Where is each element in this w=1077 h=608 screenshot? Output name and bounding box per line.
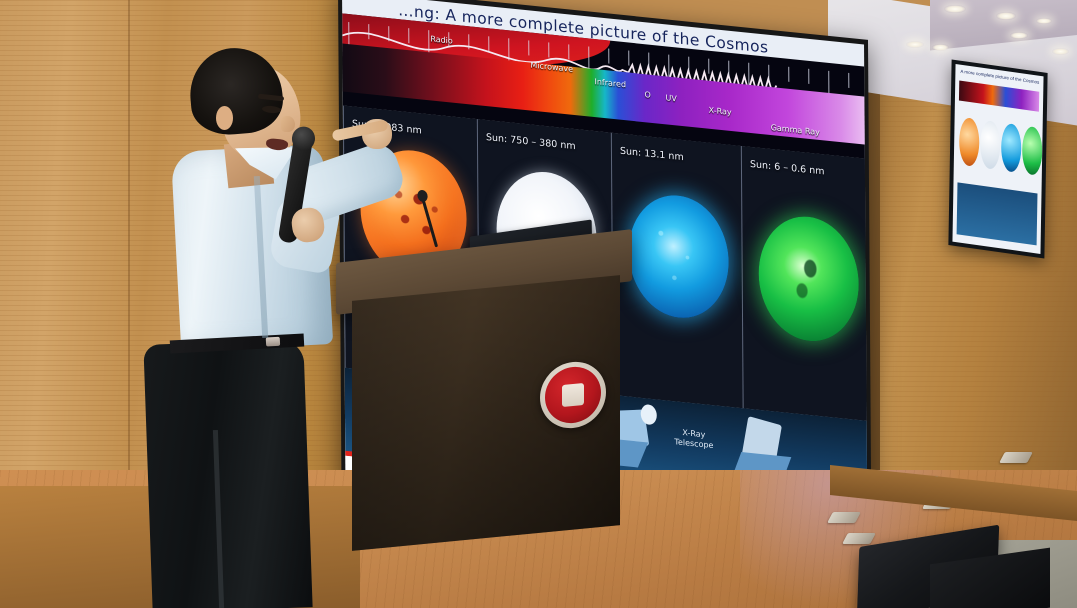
downlight-icon xyxy=(1052,48,1069,55)
sun-label-xray: Sun: 6 – 0.6 nm xyxy=(750,159,825,178)
secondary-sun-infrared xyxy=(959,117,980,168)
lecture-hall-photo: …ng: A more complete picture of the Cosm… xyxy=(0,0,1077,608)
presenter-nose xyxy=(281,116,295,132)
downlight-icon xyxy=(1036,18,1052,24)
presenter-trousers xyxy=(143,339,312,608)
downlight-icon xyxy=(944,5,966,13)
secondary-display: A more complete picture of the Cosmos xyxy=(948,59,1047,258)
floor-outlet xyxy=(999,452,1033,463)
telescope-label-line2: Telescope xyxy=(674,437,713,450)
secondary-sun-optical xyxy=(980,120,1001,171)
secondary-telescope-band xyxy=(957,182,1038,245)
secondary-sun-row xyxy=(958,116,1039,183)
sun-label-ultraviolet: Sun: 13.1 nm xyxy=(620,146,684,163)
presenter-ear xyxy=(216,106,233,130)
spectrum-label-optical: O xyxy=(645,90,651,100)
secondary-sun-ultraviolet xyxy=(1001,123,1022,174)
telescope-label-xray: X-Ray Telescope xyxy=(667,426,721,452)
ultraviolet-telescope-dish-icon xyxy=(641,404,657,426)
floor-outlet xyxy=(842,533,876,544)
sun-panel-xray: Sun: 6 – 0.6 nm xyxy=(741,146,868,422)
downlight-icon xyxy=(1010,32,1028,39)
floor-outlet xyxy=(827,512,861,523)
secondary-sun-xray xyxy=(1022,125,1043,176)
spectrum-label-uv: UV xyxy=(666,93,677,103)
sun-label-optical: Sun: 750 – 380 nm xyxy=(486,132,576,152)
sun-image-xray xyxy=(758,212,859,346)
sun-image-ultraviolet xyxy=(628,191,729,323)
presenter-pointing-hand xyxy=(332,115,390,149)
secondary-display-screen: A more complete picture of the Cosmos xyxy=(952,64,1043,254)
downlight-icon xyxy=(932,44,949,51)
downlight-icon xyxy=(906,41,924,48)
downlight-icon xyxy=(996,12,1016,20)
